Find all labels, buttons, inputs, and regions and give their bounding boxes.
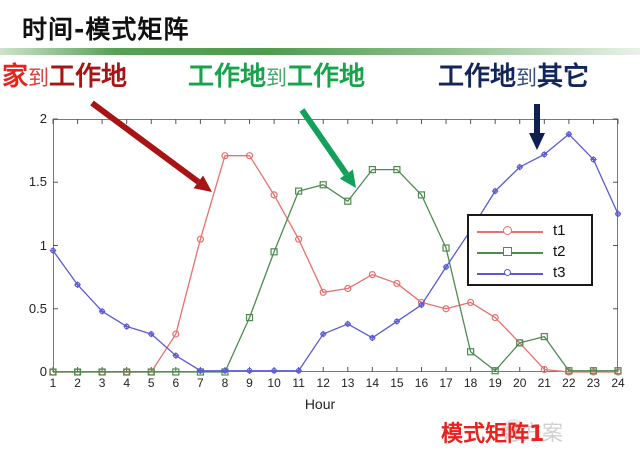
legend-label-t1: t1: [553, 222, 566, 239]
x-tick-label: 5: [139, 376, 163, 390]
x-tick-label: 1: [41, 376, 65, 390]
y-tick-label: 2: [7, 111, 47, 126]
x-tick-label: 6: [164, 376, 188, 390]
y-tick-label: 1: [7, 238, 47, 253]
x-tick-label: 4: [115, 376, 139, 390]
x-axis-label: Hour: [0, 396, 640, 412]
legend-marker-square-icon: [503, 247, 512, 256]
arrow-home-to-work: [92, 103, 212, 192]
footer-label: 模式矩阵1: [441, 416, 544, 448]
x-tick-label: 23: [581, 376, 605, 390]
x-tick-label: 11: [287, 376, 311, 390]
x-tick-label: 21: [532, 376, 556, 390]
x-tick-label: 7: [188, 376, 212, 390]
legend-marker-circle-icon: [503, 226, 512, 235]
x-tick-label: 16: [409, 376, 433, 390]
legend-label-t3: t3: [553, 264, 566, 281]
annotation-arrows-layer: [92, 103, 545, 192]
x-tick-label: 12: [311, 376, 335, 390]
legend-item-t1[interactable]: t1: [469, 221, 591, 242]
slide-canvas: 时间-模式矩阵 家到工作地 工作地到工作地 工作地到其它 00.511.52 1…: [0, 0, 640, 460]
x-tick-label: 2: [66, 376, 90, 390]
x-tick-label: 18: [459, 376, 483, 390]
legend-marker-diamond-icon: [504, 269, 511, 276]
arrow-work-to-other: [529, 104, 545, 150]
legend-label-t2: t2: [553, 243, 566, 260]
x-tick-label: 22: [557, 376, 581, 390]
chart-legend: t1t2t3: [467, 214, 593, 286]
x-tick-label: 19: [483, 376, 507, 390]
x-tick-label: 8: [213, 376, 237, 390]
x-tick-label: 20: [508, 376, 532, 390]
legend-item-t3[interactable]: t3: [469, 263, 591, 284]
x-tick-label: 14: [360, 376, 384, 390]
y-tick-label: 1.5: [7, 174, 47, 189]
x-tick-label: 24: [606, 376, 630, 390]
x-tick-label: 15: [385, 376, 409, 390]
y-tick-label: 0.5: [7, 301, 47, 316]
x-tick-label: 13: [336, 376, 360, 390]
x-tick-label: 3: [90, 376, 114, 390]
x-tick-label: 9: [238, 376, 262, 390]
legend-item-t2[interactable]: t2: [469, 242, 591, 263]
x-tick-label: 10: [262, 376, 286, 390]
x-tick-label: 17: [434, 376, 458, 390]
